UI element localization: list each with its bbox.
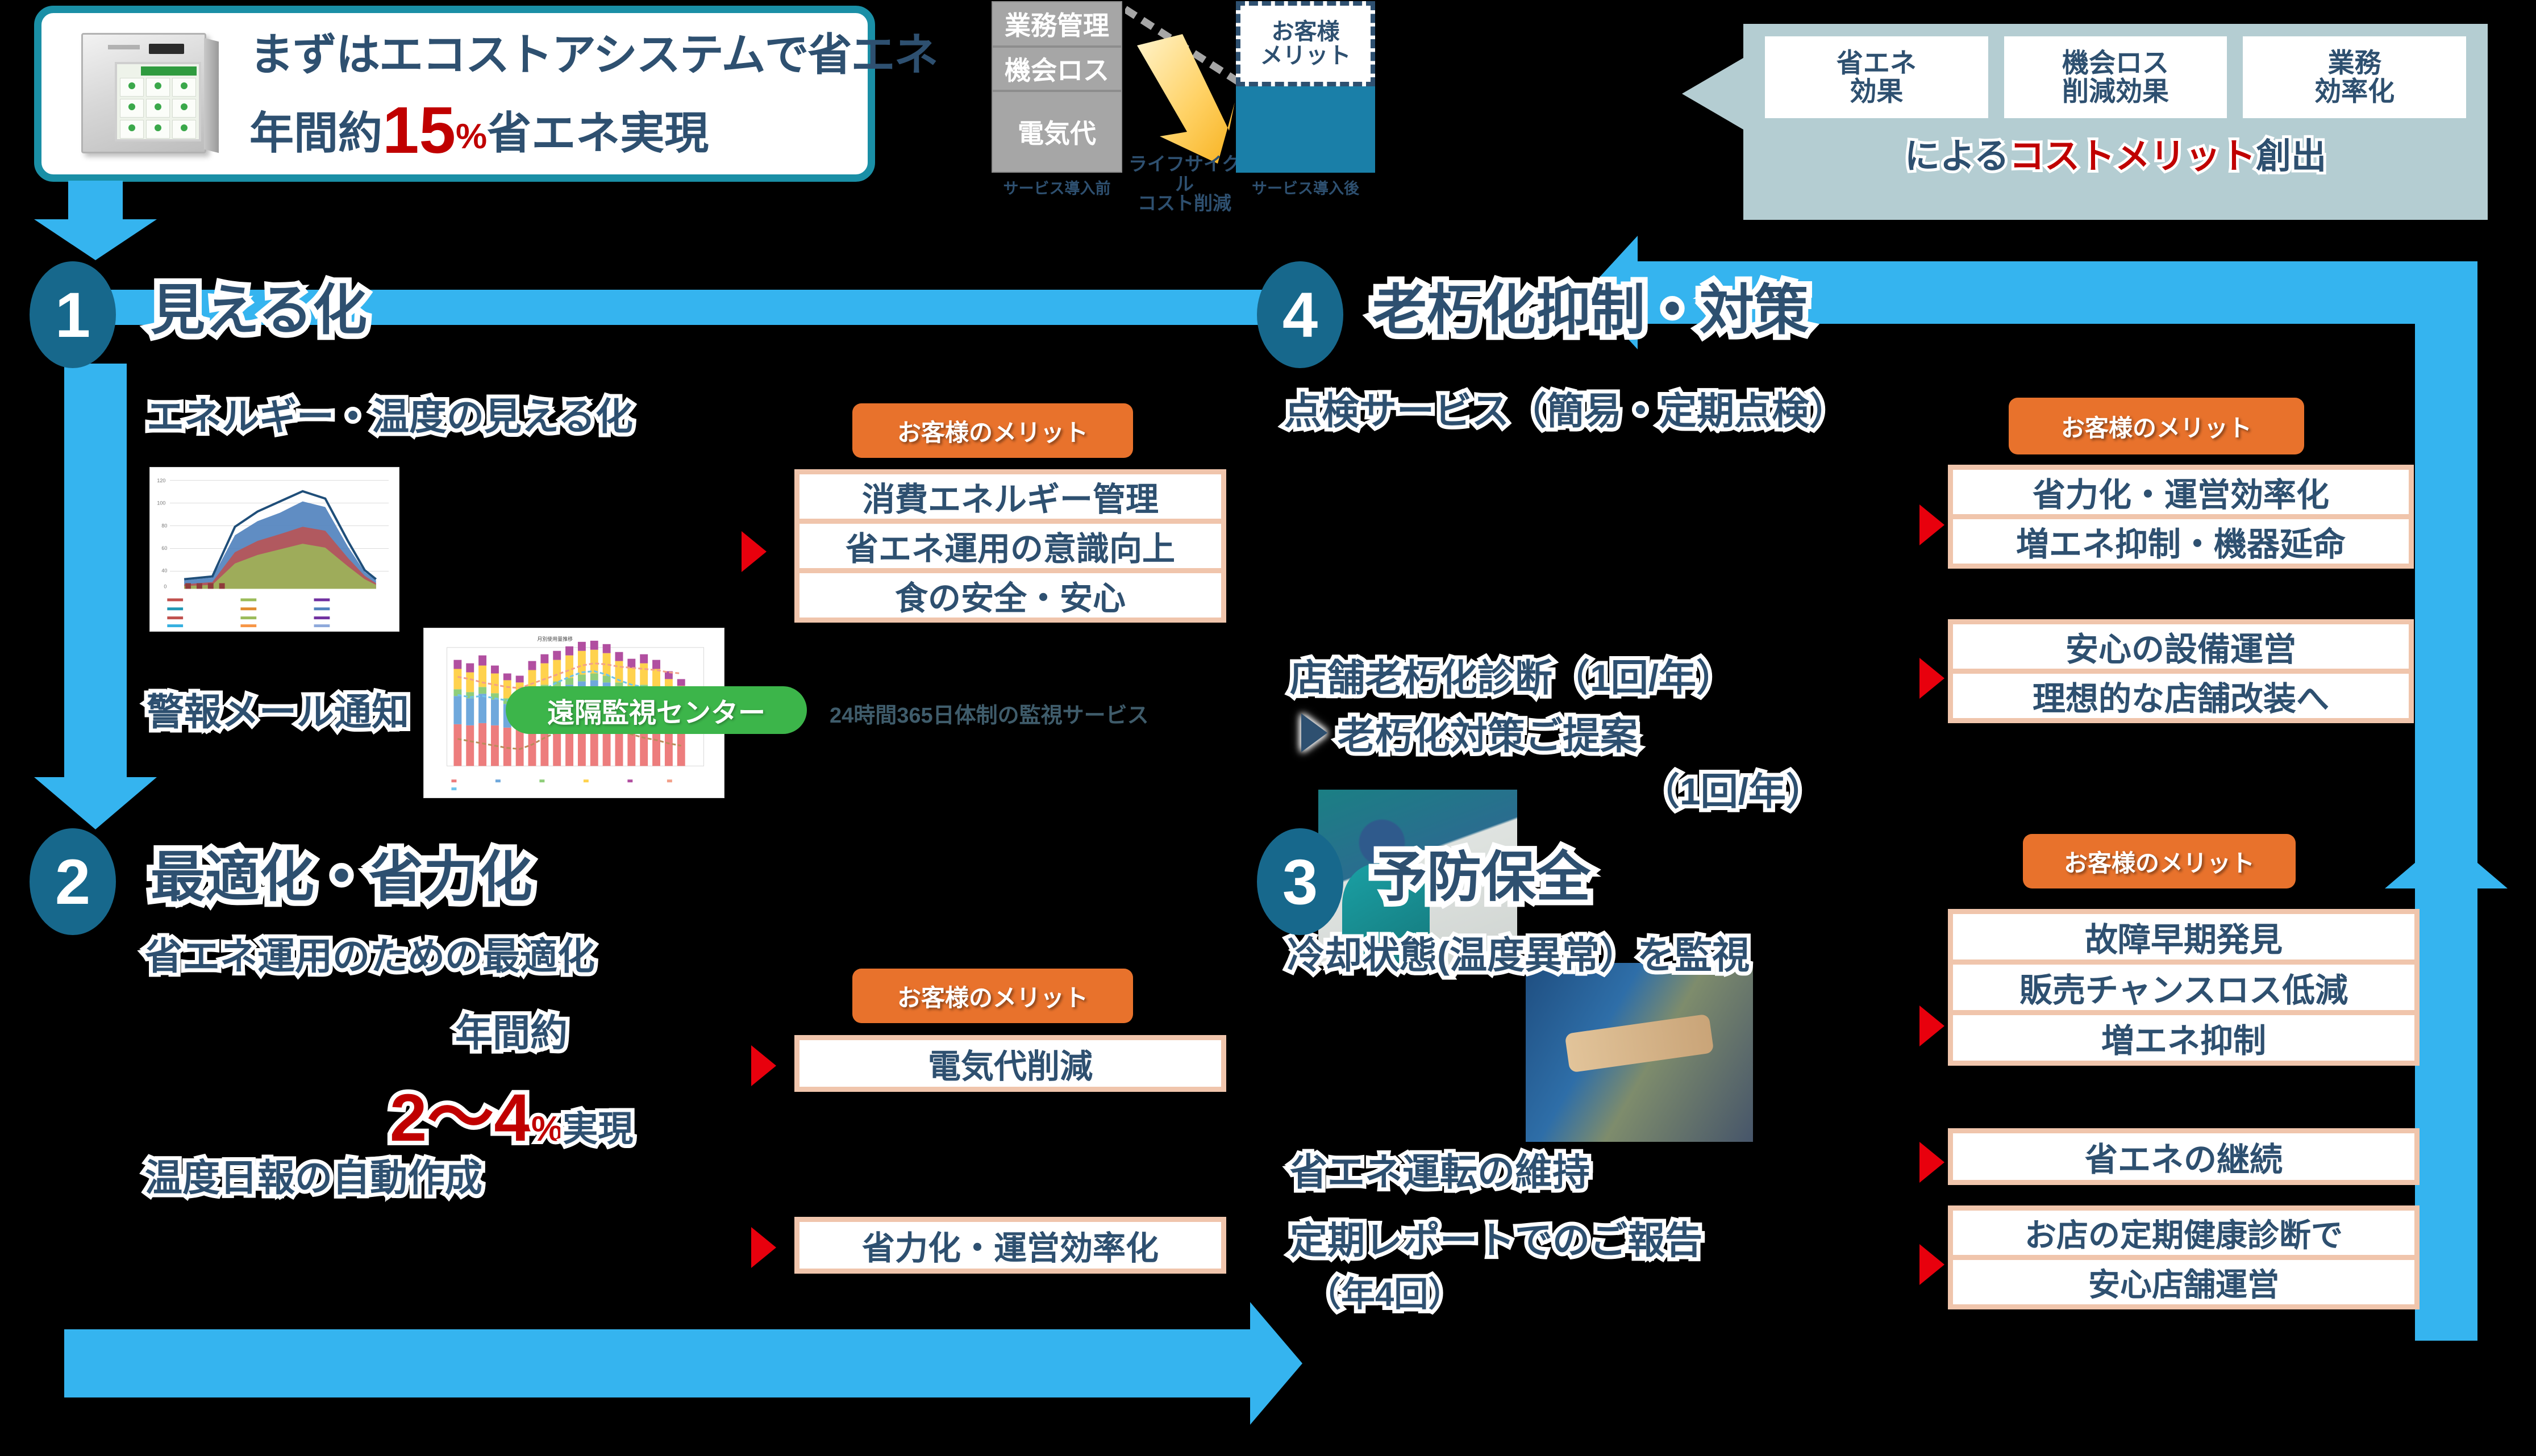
quadrant-1-benefit-group-1: 消費エネルギー管理 省エネ運用の意識向上 食の安全・安心 (794, 469, 1226, 623)
quadrant-4-number: 4 (1257, 261, 1343, 368)
quadrant-1-subhead: エネルギー・温度の見える化 (147, 386, 633, 441)
merit-box-list: 省エネ 効果 機会ロス 削減効果 業務 効率化 (1743, 24, 2488, 118)
flow-arrow-1-to-2-shaft (64, 364, 127, 778)
remote-monitoring-center-pill: 遠隔監視センター (506, 686, 807, 734)
quadrant-4-benefit-pointer-2-icon (1919, 658, 1944, 699)
quadrant-2-annual-block: 年間約 2〜4%実現 (364, 1003, 659, 1160)
headline-prefix: 年間約 (249, 108, 382, 158)
quadrant-4-subhead: 点検サービス（簡易・定期点検） (1284, 381, 1847, 435)
product-headline-secondary: 年間約15%省エネ実現 (249, 92, 938, 168)
quadrant-2-benefit-row-1: 電気代削減 (799, 1040, 1221, 1087)
quadrant-2-title: 最適化・省力化 (151, 833, 532, 912)
quadrant-1-title: 見える化 (151, 266, 367, 345)
flow-arrow-4-top-spine (2415, 261, 2477, 892)
cost-segment-kikaiross: 機会ロス (992, 47, 1122, 91)
quadrant-1-number: 1 (30, 261, 116, 368)
quadrant-4-benefit-pointer-1-icon (1919, 504, 1944, 545)
cost-before-axis-label: サービス導入前 (992, 176, 1122, 198)
flow-arrow-3-to-4-shaft (2415, 886, 2477, 1341)
product-intro-card: まずはエコストアシステムで省エネ 年間約15%省エネ実現 (34, 6, 875, 182)
quadrant-2-number: 2 (30, 828, 116, 935)
quadrant-3-benefit-group-3: お店の定期健康診断で 安心店舗運営 (1948, 1205, 2420, 1309)
cost-segment-gyomu: 業務管理 (992, 1, 1122, 47)
quadrant-2-merit-badge: お客様のメリット (852, 969, 1133, 1023)
quadrant-2-benefit-row-2: 省力化・運営効率化 (799, 1222, 1221, 1269)
quadrant-4-title: 老朽化抑制・対策 (1372, 266, 1809, 345)
quadrant-4-benefit-row-2: 増エネ抑制・機器延命 (1953, 519, 2409, 564)
quadrant-2-annual-prefix: 年間約 (364, 1003, 659, 1057)
quadrant-1-benefit-row-1: 消費エネルギー管理 (799, 474, 1221, 519)
controller-panel-icon (64, 28, 235, 159)
quadrant-2-annual-value-row: 2〜4%実現 (364, 1063, 659, 1160)
svg-text:月別使用量推移: 月別使用量推移 (537, 636, 573, 642)
quadrant-2-benefit-group-1: 電気代削減 (794, 1035, 1226, 1092)
infographic-canvas: まずはエコストアシステムで省エネ 年間約15%省エネ実現 業務管理 機会ロス 電… (0, 0, 2536, 1456)
flow-arrow-card-to-1-shaft (68, 181, 123, 220)
quadrant-1-alert-label: 警報メール通知 (147, 682, 409, 736)
quadrant-3-benefit-group-1: 故障早期発見 販売チャンスロス低減 増エネ抑制 (1948, 909, 2420, 1066)
quadrant-4-diagnosis-line-2-row: 老朽化対策ご提案 (1301, 706, 1638, 760)
merit-summary-panel: 省エネ 効果 機会ロス 削減効果 業務 効率化 によるコストメリット創出 (1743, 24, 2488, 220)
merit-box-energy: 省エネ 効果 (1765, 36, 1988, 118)
flow-arrow-2-to-3-head (1250, 1302, 1302, 1425)
svg-text:60: 60 (161, 545, 167, 551)
svg-text:40: 40 (161, 568, 167, 574)
svg-text:80: 80 (161, 523, 167, 528)
flow-arrow-1-to-2-head (34, 777, 157, 829)
quadrant-3-benefit-row-6: 安心店舗運営 (1953, 1260, 2414, 1304)
quadrant-4-benefit-row-4: 理想的な店舗改装へ (1953, 674, 2409, 718)
quadrant-1-merit-badge: お客様のメリット (852, 403, 1133, 458)
svg-text:100: 100 (157, 500, 165, 506)
merit-panel-pointer-icon (1682, 54, 1750, 133)
cost-after-blue-bar (1236, 86, 1375, 173)
headline-suffix: 省エネ実現 (487, 108, 709, 158)
quadrant-3-benefit-pointer-3-icon (1919, 1244, 1944, 1285)
quadrant-4-benefit-row-1: 省力化・運営効率化 (1953, 470, 2409, 514)
quadrant-3-benefit-row-5: お店の定期健康診断で (1953, 1211, 2414, 1255)
cost-after-axis-label: サービス導入後 (1236, 176, 1375, 198)
quadrant-3-number: 3 (1257, 828, 1343, 935)
flow-arrow-card-to-1-head (34, 219, 157, 260)
quadrant-1-benefit-row-2: 省エネ運用の意識向上 (799, 524, 1221, 568)
flow-arrow-2-to-3-shaft (64, 1329, 1252, 1397)
quadrant-3-benefit-pointer-2-icon (1919, 1142, 1944, 1183)
quadrant-3-benefit-row-2: 販売チャンスロス低減 (1953, 965, 2414, 1010)
merit-tagline: によるコストメリット創出 (1743, 127, 2488, 178)
yellow-down-right-arrow-icon (1132, 34, 1235, 165)
cost-before-column: 業務管理 機会ロス 電気代 サービス導入前 (992, 1, 1122, 198)
quadrant-4-benefit-group-2: 安心の設備運営 理想的な店舗改装へ (1948, 619, 2414, 723)
quadrant-3-benefit-row-1: 故障早期発見 (1953, 914, 2414, 959)
quadrant-1-benefit-row-3: 食の安全・安心 (799, 573, 1221, 618)
quadrant-2-subhead-2: 温度日報の自動作成 (145, 1148, 482, 1202)
headline-value: 15 (382, 93, 456, 167)
quadrant-3-title: 予防保全 (1372, 833, 1590, 912)
quadrant-2-subhead: 省エネ運用のための最適化 (145, 926, 595, 981)
customer-merit-dashed-box: お客様 メリット (1236, 1, 1375, 86)
quadrant-2-annual-suffix: 実現 (563, 1109, 633, 1149)
quadrant-4-benefit-row-3: 安心の設備運営 (1953, 624, 2409, 669)
quadrant-1-monitoring-note: 24時間365日体制の監視サービス (830, 698, 1149, 729)
quadrant-2-benefit-pointer-1-icon (751, 1045, 776, 1086)
quadrant-2-annual-percent: % (531, 1109, 563, 1149)
lifecycle-cost-chart: 業務管理 機会ロス 電気代 サービス導入前 ライフサイクル コスト削減 (992, 0, 1565, 261)
quadrant-3-benefit-group-2: 省エネの継続 (1948, 1128, 2420, 1185)
quadrant-4-diagnosis-line-3: （1回/年） (1642, 761, 1823, 816)
merit-tagline-accent: コストメリット (2009, 137, 2256, 176)
quadrant-3-line-b: 定期レポートでのご報告 (1290, 1210, 1702, 1265)
quadrant-1-thumb-energy-chart: 12010080 60400 (149, 467, 399, 632)
quadrant-4-benefit-group-1: 省力化・運営効率化 増エネ抑制・機器延命 (1948, 465, 2414, 569)
svg-text:120: 120 (157, 478, 165, 483)
svg-text:0: 0 (164, 584, 166, 590)
quadrant-4-proposal-arrow-icon (1301, 714, 1327, 752)
quadrant-4-diagnosis-line-1: 店舗老朽化診断（1回/年） (1290, 648, 1734, 702)
quadrant-3-subhead: 冷却状態(温度異常）を監視 (1287, 925, 1750, 979)
merit-box-opportunity-loss: 機会ロス 削減効果 (2004, 36, 2227, 118)
cost-after-column: お客様 メリット サービス導入後 (1236, 1, 1375, 198)
quadrant-3-benefit-pointer-1-icon (1919, 1006, 1944, 1046)
quadrant-1-benefit-pointer-icon (742, 531, 767, 572)
cost-segment-denkidai: 電気代 (992, 91, 1122, 173)
quadrant-3-line-c: （年4回） (1307, 1267, 1462, 1316)
quadrant-4-photo-inspection (1526, 963, 1753, 1142)
headline-percent: % (456, 117, 487, 156)
quadrant-2-benefit-pointer-2-icon (751, 1227, 776, 1268)
quadrant-3-line-a: 省エネ運転の維持 (1290, 1142, 1590, 1196)
quadrant-2-annual-value: 2〜4 (390, 1080, 531, 1155)
quadrant-2-benefit-group-2: 省力化・運営効率化 (794, 1217, 1226, 1274)
quadrant-3-benefit-row-4: 省エネの継続 (1953, 1133, 2414, 1180)
quadrant-3-benefit-row-3: 増エネ抑制 (1953, 1015, 2414, 1061)
quadrant-4-diagnosis-line-2: 老朽化対策ご提案 (1338, 706, 1638, 760)
lifecycle-cost-reduction-label: ライフサイクル コスト削減 (1123, 155, 1246, 214)
merit-box-operations: 業務 効率化 (2243, 36, 2466, 118)
quadrant-3-merit-badge: お客様のメリット (2023, 834, 2296, 888)
product-headline-primary: まずはエコストアシステムで省エネ (249, 19, 938, 83)
quadrant-4-merit-badge: お客様のメリット (2009, 398, 2304, 454)
